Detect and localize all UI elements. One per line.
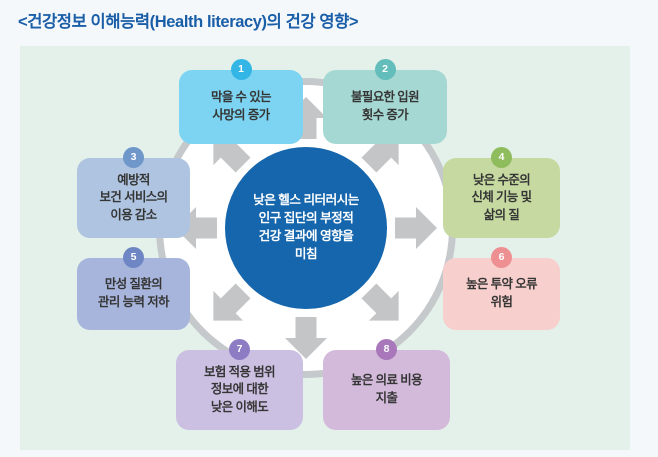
node-8-badge: 8 <box>376 339 397 360</box>
node-2-badge: 2 <box>375 59 396 80</box>
node-6-badge: 6 <box>491 247 512 268</box>
node-5-badge: 5 <box>123 247 144 268</box>
node-2-label: 불필요한 입원 횟수 증가 <box>345 89 425 124</box>
node-1-badge: 1 <box>231 59 252 80</box>
node-4-label: 낮은 수준의 신체 기능 및 삶의 질 <box>465 172 537 225</box>
node-5[interactable]: 5 만성 질환의 관리 능력 저하 <box>77 258 190 330</box>
node-4-badge: 4 <box>491 147 512 168</box>
node-7[interactable]: 7 보험 적용 범위 정보에 대한 낮은 이해도 <box>176 350 303 430</box>
node-6-label: 높은 투약 오류 위험 <box>460 276 543 311</box>
center-node: 낮은 헬스 리터러시는 인구 집단의 부정적 건강 결과에 영향을 미침 <box>225 147 387 309</box>
node-7-badge: 7 <box>229 339 250 360</box>
node-4[interactable]: 4 낮은 수준의 신체 기능 및 삶의 질 <box>443 158 560 238</box>
node-8-label: 높은 의료 비용 지출 <box>345 372 428 407</box>
node-3-badge: 3 <box>123 147 144 168</box>
node-3-label: 예방적 보건 서비스의 이용 감소 <box>94 172 174 225</box>
node-1[interactable]: 1 막을 수 있는 사망의 증가 <box>179 70 303 144</box>
page-title: <건강정보 이해능력(Health literacy)의 건강 영향> <box>18 8 358 32</box>
node-5-label: 만성 질환의 관리 능력 저하 <box>92 276 175 311</box>
node-6[interactable]: 6 높은 투약 오류 위험 <box>443 258 560 330</box>
diagram-panel: 낮은 헬스 리터러시는 인구 집단의 부정적 건강 결과에 영향을 미침 1 막… <box>20 46 630 450</box>
node-3[interactable]: 3 예방적 보건 서비스의 이용 감소 <box>77 158 190 238</box>
node-1-label: 막을 수 있는 사망의 증가 <box>205 89 277 124</box>
center-node-text: 낮은 헬스 리터러시는 인구 집단의 부정적 건강 결과에 영향을 미침 <box>243 192 369 264</box>
node-2[interactable]: 2 불필요한 입원 횟수 증가 <box>323 70 447 144</box>
node-7-label: 보험 적용 범위 정보에 대한 낮은 이해도 <box>198 364 281 417</box>
node-8[interactable]: 8 높은 의료 비용 지출 <box>323 350 450 430</box>
